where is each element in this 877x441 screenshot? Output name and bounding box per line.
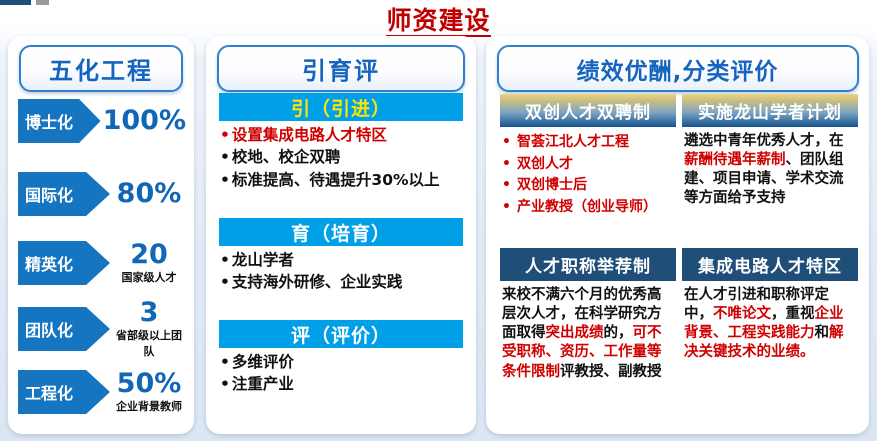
metric-row: 国际化 80%	[18, 167, 186, 221]
chevron-icon: 国际化	[18, 172, 110, 216]
metric-label: 工程化	[18, 380, 73, 404]
section-list-evaluate: 多维评价 注重产业	[220, 351, 472, 396]
metric-label: 精英化	[18, 251, 73, 275]
list-item: 设置集成电路人才特区	[220, 124, 472, 146]
section-list-attract: 设置集成电路人才特区 校地、校企双聘 标准提高、待遇提升30%以上	[220, 124, 472, 191]
metric-value-group: 80%	[110, 180, 186, 208]
card-body: 遴选中青年优秀人才，在薪酬待遇年薪制、团队组建、项目申请、学术交流等方面给予支持	[682, 127, 858, 209]
section-bar-cultivate: 育（培育）	[219, 218, 463, 246]
card-body: 在人才引进和职称评定中，不唯论文，重视企业背景、工程实践能力和解决关键技术的业绩…	[682, 281, 858, 363]
list-item: 双创人才	[502, 154, 674, 176]
list-item: 支持海外研修、企业实践	[220, 271, 472, 293]
card-dual-innovation: 双创人才双聘制 智荟江北人才工程 双创人才 双创博士后 产业教授（创业导师）	[500, 94, 676, 219]
card-title: 集成电路人才特区	[682, 248, 858, 281]
metric-label: 团队化	[18, 317, 73, 341]
section-bar-evaluate: 评（评价）	[219, 320, 463, 348]
card-title-recommendation: 人才职称举荐制 来校不满六个月的优秀高层次人才，在科学研究方面取得突出成绩的，可…	[500, 248, 676, 382]
list-item: 标准提高、待遇提升30%以上	[220, 169, 472, 191]
card-body: 来校不满六个月的优秀高层次人才，在科学研究方面取得突出成绩的，可不受职称、资历、…	[500, 281, 676, 382]
card-longshan-scholar: 实施龙山学者计划 遴选中青年优秀人才，在薪酬待遇年薪制、团队组建、项目申请、学术…	[682, 94, 858, 209]
card-title: 实施龙山学者计划	[682, 94, 858, 127]
page-title-text: 师资建设	[386, 6, 490, 37]
metric-row: 精英化 20 国家级人才	[18, 236, 186, 290]
metric-value-group: 100%	[101, 107, 186, 135]
metric-row: 工程化 50% 企业背景教师	[18, 365, 186, 419]
metric-value-group: 50% 企业背景教师	[110, 370, 186, 414]
section-list-cultivate: 龙山学者 支持海外研修、企业实践	[220, 249, 472, 294]
chevron-icon: 博士化	[18, 99, 101, 143]
panel-right-header: 绩效优酬,分类评价	[497, 45, 859, 92]
card-title: 人才职称举荐制	[500, 248, 676, 281]
text-run: 的，	[604, 325, 633, 341]
text-run-red: 薪酬待遇年薪制	[684, 152, 786, 168]
metric-value: 3	[112, 299, 186, 326]
section-bar-attract: 引（引进）	[219, 93, 463, 121]
text-run: 遴选中青年优秀人才，在	[684, 133, 844, 149]
panel-attract-cultivate-evaluate: 引育评 引（引进） 设置集成电路人才特区 校地、校企双聘 标准提高、待遇提升30…	[206, 36, 476, 434]
panel-five-modernizations: 五化工程 博士化 100% 国际化 80% 精英化 20 国家级人才 团队化 3…	[8, 36, 194, 434]
metric-row: 博士化 100%	[18, 94, 186, 148]
metric-value: 50%	[112, 370, 186, 397]
list-item: 产业教授（创业导师）	[502, 197, 674, 219]
metric-note: 企业背景教师	[112, 398, 186, 414]
metric-value: 80%	[112, 180, 186, 207]
card-body: 智荟江北人才工程 双创人才 双创博士后 产业教授（创业导师）	[500, 127, 676, 219]
card-ic-talent-zone: 集成电路人才特区 在人才引进和职称评定中，不唯论文，重视企业背景、工程实践能力和…	[682, 248, 858, 363]
panel-left-header: 五化工程	[19, 45, 183, 92]
chevron-icon: 团队化	[18, 307, 110, 351]
metric-label: 博士化	[18, 109, 73, 133]
page-title: 师资建设	[0, 1, 877, 37]
metric-label: 国际化	[18, 182, 73, 206]
metric-row: 团队化 3 省部级以上团队	[18, 302, 186, 356]
text-run-red: 突出成绩	[546, 325, 604, 341]
text-run: 评教授、副教授	[560, 364, 662, 380]
metric-value: 100%	[103, 107, 186, 134]
card-title: 双创人才双聘制	[500, 94, 676, 127]
text-run: 和	[815, 325, 830, 341]
list-item: 智荟江北人才工程	[502, 132, 674, 154]
chevron-icon: 工程化	[18, 370, 110, 414]
list-item: 龙山学者	[220, 249, 472, 271]
metric-value: 20	[112, 241, 186, 268]
text-run-red: 不唯论文	[713, 306, 771, 322]
list-item: 注重产业	[220, 373, 472, 395]
metric-note: 国家级人才	[112, 269, 186, 285]
text-run: ，重视	[771, 306, 815, 322]
metric-value-group: 20 国家级人才	[110, 241, 186, 285]
metric-note: 省部级以上团队	[112, 327, 186, 359]
list-item: 多维评价	[220, 351, 472, 373]
list-item: 校地、校企双聘	[220, 146, 472, 168]
metric-value-group: 3 省部级以上团队	[110, 299, 186, 359]
card-bullet-list: 智荟江北人才工程 双创人才 双创博士后 产业教授（创业导师）	[502, 132, 674, 219]
panel-mid-header: 引育评	[217, 45, 465, 92]
chevron-icon: 精英化	[18, 241, 110, 285]
list-item: 双创博士后	[502, 175, 674, 197]
panel-performance-evaluation: 绩效优酬,分类评价 双创人才双聘制 智荟江北人才工程 双创人才 双创博士后 产业…	[486, 36, 869, 434]
